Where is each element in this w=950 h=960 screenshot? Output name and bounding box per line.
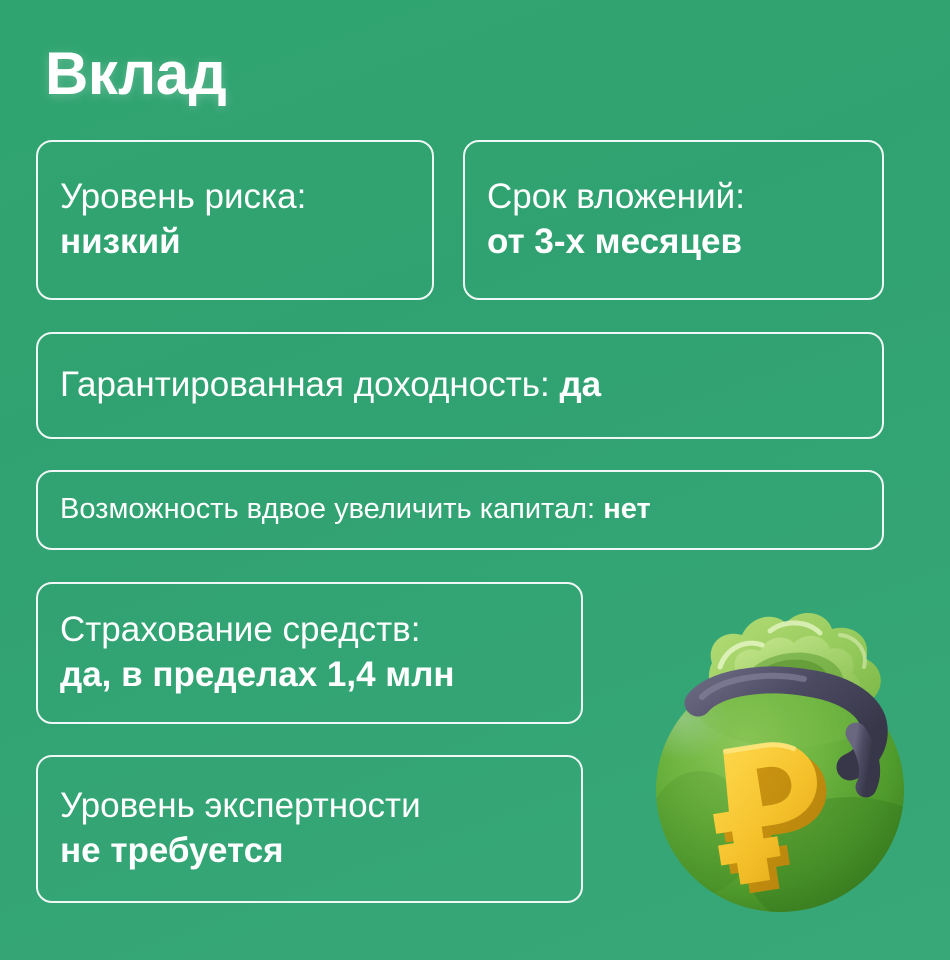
card-funds-insurance-label: Страхование средств: — [60, 608, 559, 653]
card-investment-term-label: Срок вложений: — [487, 175, 860, 220]
card-investment-term-value: от 3-х месяцев — [487, 220, 860, 265]
card-risk-level-label: Уровень риска: — [60, 175, 410, 220]
card-double-capital-value: нет — [603, 493, 650, 525]
card-double-capital-text: Возможность вдвое увеличить капитал: нет — [60, 491, 860, 528]
deposit-infographic: Вклад Уровень риска: низкий Срок вложени… — [0, 0, 950, 960]
card-guaranteed-yield-label: Гарантированная доходность: — [60, 365, 550, 404]
card-risk-level-value: низкий — [60, 220, 410, 265]
card-guaranteed-yield-value: да — [559, 365, 601, 404]
card-expertise-level-label: Уровень экспертности — [60, 784, 559, 829]
card-double-capital-label: Возможность вдвое увеличить капитал: — [60, 493, 595, 525]
page-title: Вклад — [45, 44, 226, 104]
card-double-capital: Возможность вдвое увеличить капитал: нет — [36, 470, 884, 550]
card-funds-insurance: Страхование средств: да, в пределах 1,4 … — [36, 582, 583, 724]
card-expertise-level-value: не требуется — [60, 829, 559, 874]
card-investment-term: Срок вложений: от 3-х месяцев — [463, 140, 884, 300]
card-risk-level: Уровень риска: низкий — [36, 140, 434, 300]
card-funds-insurance-value: да, в пределах 1,4 млн — [60, 653, 559, 698]
card-guaranteed-yield: Гарантированная доходность: да — [36, 332, 884, 439]
money-bag-icon — [640, 575, 940, 935]
card-guaranteed-yield-text: Гарантированная доходность: да — [60, 363, 860, 408]
card-expertise-level: Уровень экспертности не требуется — [36, 755, 583, 903]
